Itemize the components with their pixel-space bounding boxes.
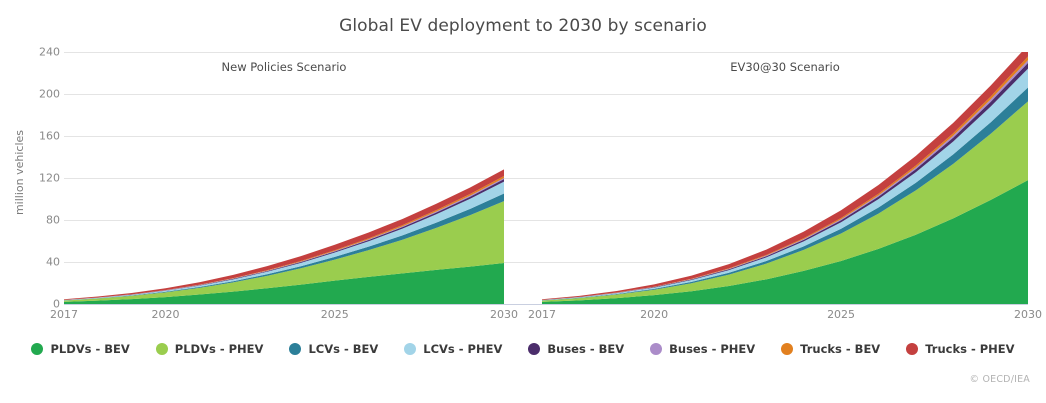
- legend-swatch-icon: [404, 343, 416, 355]
- y-axis-tick: 160: [20, 130, 60, 143]
- legend-label: LCVs - PHEV: [423, 342, 502, 356]
- legend-swatch-icon: [781, 343, 793, 355]
- legend-swatch-icon: [650, 343, 662, 355]
- legend-item-buses-bev[interactable]: Buses - BEV: [528, 342, 624, 356]
- x-axis-tick: 2020: [640, 308, 668, 321]
- x-axis-line: [64, 304, 1028, 305]
- legend-swatch-icon: [289, 343, 301, 355]
- legend-label: LCVs - BEV: [308, 342, 378, 356]
- y-axis-tick: 40: [20, 256, 60, 269]
- legend-item-buses-phev[interactable]: Buses - PHEV: [650, 342, 755, 356]
- x-axis-tick: 2020: [152, 308, 180, 321]
- x-axis-tick: 2017: [50, 308, 78, 321]
- x-axis-tick: 2017: [528, 308, 556, 321]
- legend-item-trucks-bev[interactable]: Trucks - BEV: [781, 342, 880, 356]
- chart-container: Global EV deployment to 2030 by scenario…: [0, 0, 1046, 403]
- legend-swatch-icon: [156, 343, 168, 355]
- plot-area-new-policies: [64, 52, 504, 304]
- legend-label: Trucks - BEV: [800, 342, 880, 356]
- chart-legend: PLDVs - BEVPLDVs - PHEVLCVs - BEVLCVs - …: [0, 336, 1046, 362]
- legend-item-pldvs-phev[interactable]: PLDVs - PHEV: [156, 342, 264, 356]
- y-axis-tick: 120: [20, 172, 60, 185]
- legend-label: PLDVs - PHEV: [175, 342, 264, 356]
- plot-area-ev30at30: [542, 52, 1028, 304]
- legend-label: PLDVs - BEV: [50, 342, 129, 356]
- y-axis-tick: 200: [20, 88, 60, 101]
- x-axis-tick: 2025: [827, 308, 855, 321]
- x-axis-tick: 2030: [490, 308, 518, 321]
- legend-item-trucks-phev[interactable]: Trucks - PHEV: [906, 342, 1014, 356]
- legend-label: Buses - PHEV: [669, 342, 755, 356]
- panel-ev30at30-scenario: EV30@30 Scenario: [542, 52, 1028, 304]
- legend-item-pldvs-bev[interactable]: PLDVs - BEV: [31, 342, 129, 356]
- x-axis-tick: 2030: [1014, 308, 1042, 321]
- legend-label: Buses - BEV: [547, 342, 624, 356]
- legend-swatch-icon: [906, 343, 918, 355]
- legend-label: Trucks - PHEV: [925, 342, 1014, 356]
- x-axis-tick: 2025: [321, 308, 349, 321]
- legend-swatch-icon: [528, 343, 540, 355]
- stacked-area-series: [542, 52, 1028, 304]
- legend-swatch-icon: [31, 343, 43, 355]
- stacked-area-series: [64, 52, 504, 304]
- panel-new-policies-scenario: New Policies Scenario: [64, 52, 504, 304]
- y-axis-tick: 80: [20, 214, 60, 227]
- legend-item-lcvs-bev[interactable]: LCVs - BEV: [289, 342, 378, 356]
- y-axis-tick: 240: [20, 46, 60, 59]
- legend-item-lcvs-phev[interactable]: LCVs - PHEV: [404, 342, 502, 356]
- credit-text: © OECD/IEA: [970, 374, 1030, 385]
